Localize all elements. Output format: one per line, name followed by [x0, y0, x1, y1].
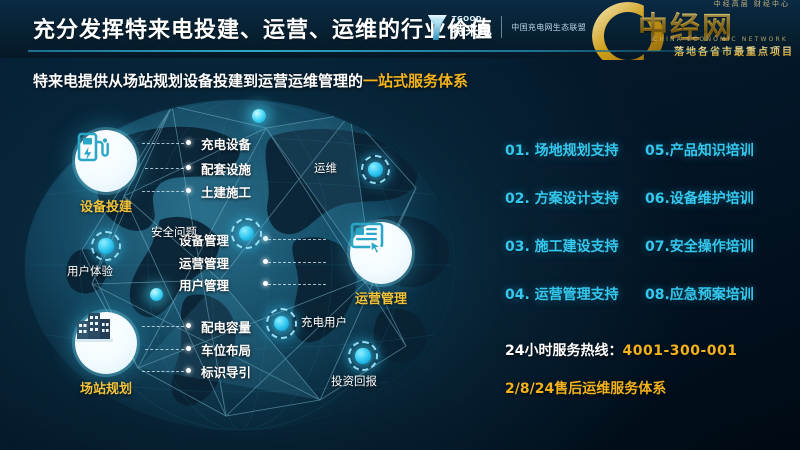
hub-item: 标识导引	[201, 362, 251, 381]
brand-name-cn: 特来电	[452, 25, 493, 38]
bullet-dot	[186, 368, 191, 373]
watermark-name-en: CHINA ECONOMIC NETWORK	[653, 36, 788, 43]
hub-item: 运营管理	[179, 253, 229, 272]
brand-tagline: 中国充电网生态联盟	[511, 22, 586, 33]
hub-operations-management[interactable]: 运营管理	[350, 222, 412, 307]
node-label: 用户体验	[67, 263, 113, 279]
hotline-number[interactable]: 4001-300-001	[622, 343, 737, 359]
hub-label: 运营管理	[350, 288, 412, 307]
brand-name-en: TGOOD	[452, 16, 493, 23]
service-item[interactable]: 07.安全操作培训	[645, 236, 754, 256]
brand-divider	[501, 16, 502, 38]
node-label: 充电用户	[301, 314, 347, 330]
connector-line	[142, 191, 184, 192]
page-title: 充分发挥特来电投建、运营、运维的行业价值	[33, 12, 493, 44]
service-item[interactable]: 02. 方案设计支持	[505, 188, 619, 208]
glow-dot-mid	[150, 288, 163, 301]
buildings-icon	[75, 312, 137, 374]
connector-line	[145, 168, 184, 169]
hub-item: 配电容量	[201, 317, 251, 336]
connector-line	[268, 262, 326, 263]
subtitle: 特来电提供从场站规划设备投建到运营运维管理的一站式服务体系	[33, 70, 468, 91]
service-column-left: 01. 场地规划支持 02. 方案设计支持 03. 施工建设支持 04. 运营管…	[505, 140, 619, 332]
hub-item: 配套设施	[201, 159, 251, 178]
charging-pump-icon	[75, 130, 137, 192]
bullet-dot	[263, 236, 268, 241]
hotline-row: 24小时服务热线：4001-300-001	[505, 340, 738, 360]
connector-line	[142, 143, 184, 144]
hotline-label: 24小时服务热线：	[505, 343, 622, 359]
hub-station-planning[interactable]: 场站规划	[75, 312, 137, 397]
node-investment-return[interactable]: 投资回报	[348, 341, 378, 371]
service-item[interactable]: 06.设备维护培训	[645, 188, 754, 208]
service-item[interactable]: 03. 施工建设支持	[505, 236, 619, 256]
service-column-right: 05.产品知识培训 06.设备维护培训 07.安全操作培训 08.应急预案培训	[645, 140, 754, 332]
bullet-dot	[186, 188, 191, 193]
connector-line	[142, 371, 184, 372]
node-label: 投资回报	[331, 373, 377, 389]
bullet-dot	[186, 346, 191, 351]
node-label: 安全问题	[151, 224, 197, 240]
hub-equipment-construction[interactable]: 设备投建	[75, 130, 137, 215]
hub-item: 土建施工	[201, 182, 251, 201]
hub-item: 充电设备	[201, 134, 251, 153]
hub-item: 车位布局	[201, 340, 251, 359]
service-item[interactable]: 08.应急预案培训	[645, 284, 754, 304]
document-cursor-icon	[350, 222, 412, 284]
tgood-brand-lockup: TGOOD 特来电 中国充电网生态联盟	[428, 14, 586, 40]
bullet-dot	[263, 259, 268, 264]
node-label: 运维	[314, 160, 337, 176]
bullet-dot	[186, 323, 191, 328]
glow-dot-top	[252, 109, 266, 123]
service-item[interactable]: 05.产品知识培训	[645, 140, 754, 160]
zhongjingwang-watermark-logo: 中经高层 财经中心 中经网 CHINA ECONOMIC NETWORK 落地各…	[586, 0, 798, 60]
hub-item: 用户管理	[179, 275, 229, 294]
hub-label: 场站规划	[75, 378, 137, 397]
connector-line	[142, 326, 184, 327]
brand-text: TGOOD 特来电	[452, 16, 493, 38]
bullet-dot	[263, 281, 268, 286]
warranty-line: 2/8/24售后运维服务体系	[505, 378, 666, 398]
slide-canvas: 充分发挥特来电投建、运营、运维的行业价值 TGOOD 特来电 中国充电网生态联盟…	[0, 0, 800, 450]
node-safety-issues[interactable]: 安全问题	[231, 218, 262, 249]
service-item[interactable]: 04. 运营管理支持	[505, 284, 619, 304]
bullet-dot	[186, 140, 191, 145]
connector-line	[268, 239, 326, 240]
node-charging-users[interactable]: 充电用户	[266, 308, 297, 339]
connector-line	[145, 349, 184, 350]
tgood-t-logo-icon	[428, 14, 447, 40]
subtitle-plain: 特来电提供从场站规划设备投建到运营运维管理的	[33, 72, 363, 90]
hub-label: 设备投建	[75, 196, 137, 215]
node-user-experience[interactable]: 用户体验	[91, 231, 121, 261]
network-globe-diagram: 设备投建 充电设备 配套设施 土建施工 运营管理	[20, 100, 490, 430]
slide-header: 充分发挥特来电投建、运营、运维的行业价值 TGOOD 特来电 中国充电网生态联盟…	[0, 0, 800, 58]
connector-line	[268, 284, 326, 285]
watermark-bottom-line: 落地各省市最重点项目	[674, 43, 794, 58]
subtitle-highlight: 一站式服务体系	[363, 72, 468, 90]
node-ops-maintenance[interactable]: 运维	[361, 155, 390, 184]
bullet-dot	[186, 165, 191, 170]
service-item[interactable]: 01. 场地规划支持	[505, 140, 619, 160]
